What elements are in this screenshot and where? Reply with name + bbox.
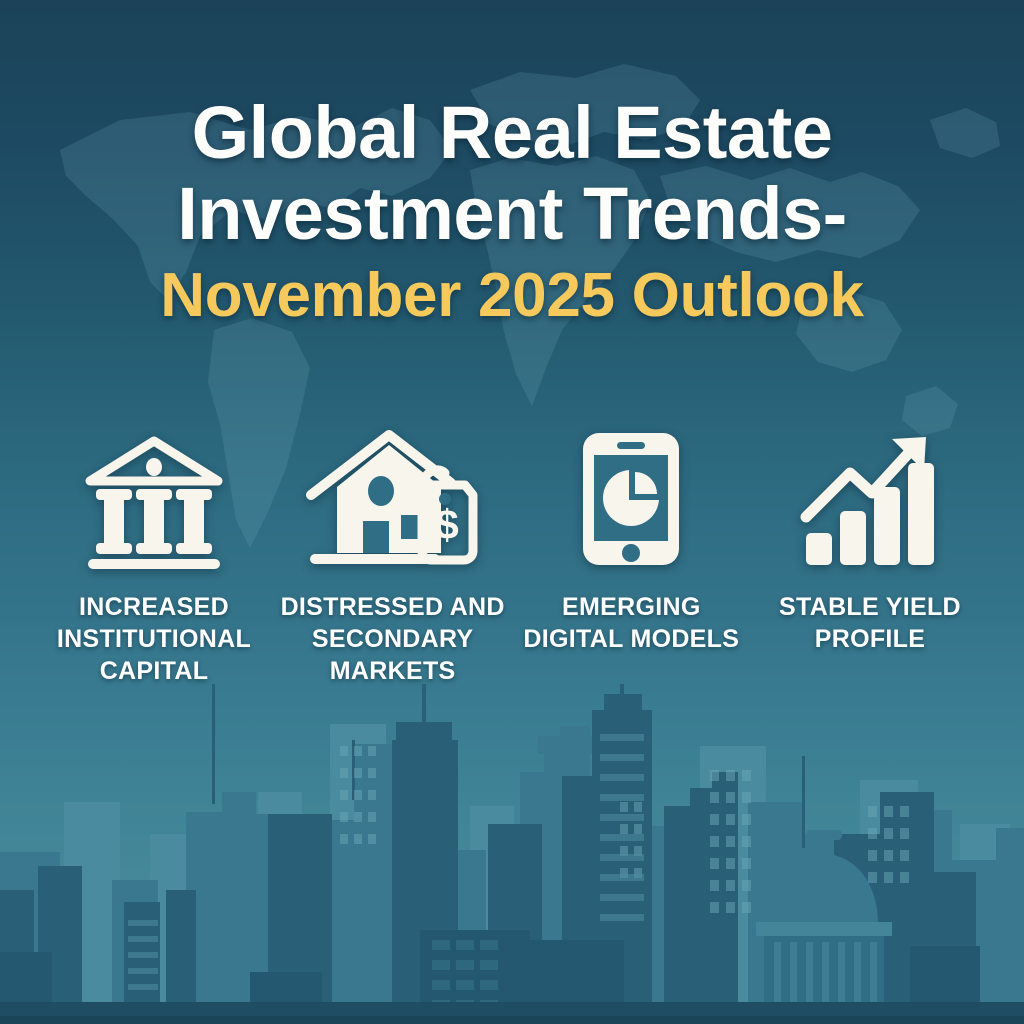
headline-block: Global Real Estate Investment Trends- No… bbox=[0, 96, 1024, 327]
feature-label-institutional-capital: INCREASED INSTITUTIONAL CAPITAL bbox=[40, 591, 268, 687]
city-skyline-silhouette bbox=[0, 684, 1024, 1024]
feature-label-digital-models: EMERGING DIGITAL MODELS bbox=[517, 591, 745, 655]
tag-dollar-symbol: $ bbox=[435, 501, 458, 548]
feature-row: INCREASED INSTITUTIONAL CAPITAL bbox=[40, 424, 984, 687]
bank-building-icon bbox=[80, 424, 228, 569]
feature-item-stable-yield: STABLE YIELD PROFILE bbox=[756, 424, 984, 655]
page-title-line-1: Global Real Estate bbox=[40, 96, 984, 169]
domed-capitol-building bbox=[752, 830, 900, 1018]
feature-label-stable-yield: STABLE YIELD PROFILE bbox=[756, 591, 984, 655]
feature-item-distressed-markets: $ DISTRESSED AND SECONDARY MARKETS bbox=[279, 424, 507, 687]
feature-item-digital-models: EMERGING DIGITAL MODELS bbox=[517, 424, 745, 655]
page-subtitle: November 2025 Outlook bbox=[40, 265, 984, 327]
growth-bar-chart-arrow-icon bbox=[800, 424, 940, 569]
feature-item-institutional-capital: INCREASED INSTITUTIONAL CAPITAL bbox=[40, 424, 268, 687]
infographic-poster: Global Real Estate Investment Trends- No… bbox=[0, 0, 1024, 1024]
page-title-line-2: Investment Trends- bbox=[40, 177, 984, 250]
smartphone-pie-chart-icon bbox=[577, 424, 685, 569]
house-price-tag-icon: $ bbox=[305, 424, 481, 569]
feature-label-distressed-markets: DISTRESSED AND SECONDARY MARKETS bbox=[279, 591, 507, 687]
